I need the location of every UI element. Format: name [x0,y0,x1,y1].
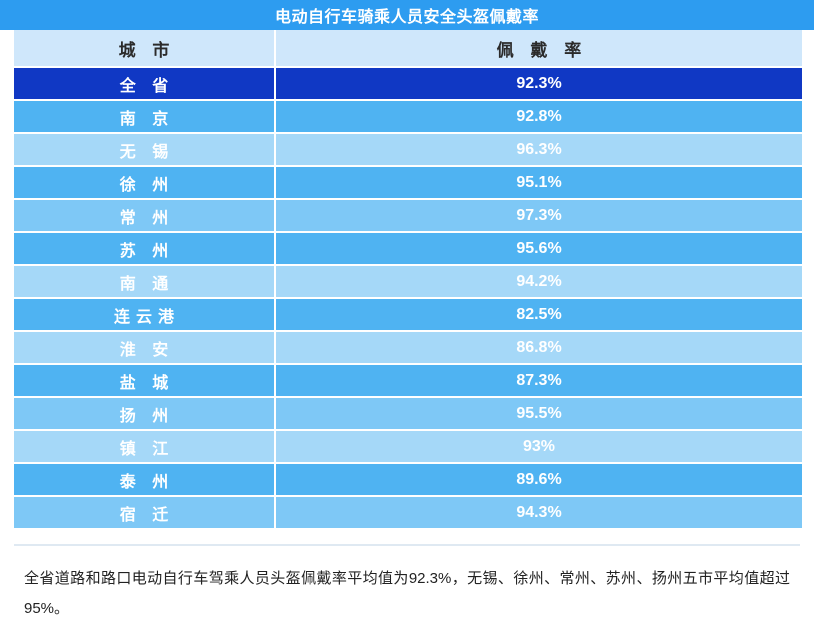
table-row: 宿 迁 94.3% [14,496,802,529]
cell-city: 无 锡 [14,133,275,166]
cell-rate: 89.6% [275,463,802,496]
page-title: 电动自行车骑乘人员安全头盔佩戴率 [275,3,539,27]
cell-city: 南 通 [14,265,275,298]
cell-rate: 82.5% [275,298,802,331]
column-header-city: 城 市 [14,30,275,67]
table-row: 南 京 92.8% [14,100,802,133]
cell-rate: 94.2% [275,265,802,298]
cell-rate: 95.1% [275,166,802,199]
cell-city: 徐 州 [14,166,275,199]
table-row: 镇 江 93% [14,430,802,463]
cell-city: 常 州 [14,199,275,232]
cell-city: 全 省 [14,67,275,100]
cell-city: 苏 州 [14,232,275,265]
cell-city: 泰 州 [14,463,275,496]
table-row: 苏 州 95.6% [14,232,802,265]
cell-rate: 86.8% [275,331,802,364]
table-row: 盐 城 87.3% [14,364,802,397]
cell-rate: 97.3% [275,199,802,232]
table-row-province: 全 省 92.3% [14,67,802,100]
cell-rate: 93% [275,430,802,463]
cell-rate: 94.3% [275,496,802,529]
cell-city: 镇 江 [14,430,275,463]
table-row: 连云港 82.5% [14,298,802,331]
table-row: 无 锡 96.3% [14,133,802,166]
column-header-rate: 佩 戴 率 [275,30,802,67]
cell-rate: 87.3% [275,364,802,397]
table-row: 扬 州 95.5% [14,397,802,430]
table-row: 泰 州 89.6% [14,463,802,496]
summary-note-text: 全省道路和路口电动自行车驾乘人员头盔佩戴率平均值为92.3%，无锡、徐州、常州、… [14,564,800,624]
cell-city: 连云港 [14,298,275,331]
cell-city: 盐 城 [14,364,275,397]
cell-city: 宿 迁 [14,496,275,529]
table-row: 徐 州 95.1% [14,166,802,199]
cell-rate: 96.3% [275,133,802,166]
table-header-row: 城 市 佩 戴 率 [14,30,802,67]
cell-rate: 92.8% [275,100,802,133]
cell-rate: 95.5% [275,397,802,430]
summary-note: 全省道路和路口电动自行车驾乘人员头盔佩戴率平均值为92.3%，无锡、徐州、常州、… [14,544,800,624]
cell-rate: 95.6% [275,232,802,265]
table-row: 南 通 94.2% [14,265,802,298]
cell-rate: 92.3% [275,67,802,100]
helmet-rate-infographic: 电动自行车骑乘人员安全头盔佩戴率 城 市 佩 戴 率 全 省 92.3% 南 京… [0,0,814,636]
table-container: 城 市 佩 戴 率 全 省 92.3% 南 京 92.8% 无 锡 96.3% … [0,30,814,530]
cell-city: 南 京 [14,100,275,133]
cell-city: 淮 安 [14,331,275,364]
table-row: 常 州 97.3% [14,199,802,232]
table-row: 淮 安 86.8% [14,331,802,364]
cell-city: 扬 州 [14,397,275,430]
title-bar: 电动自行车骑乘人员安全头盔佩戴率 [0,0,814,30]
helmet-rate-table: 城 市 佩 戴 率 全 省 92.3% 南 京 92.8% 无 锡 96.3% … [14,30,802,530]
